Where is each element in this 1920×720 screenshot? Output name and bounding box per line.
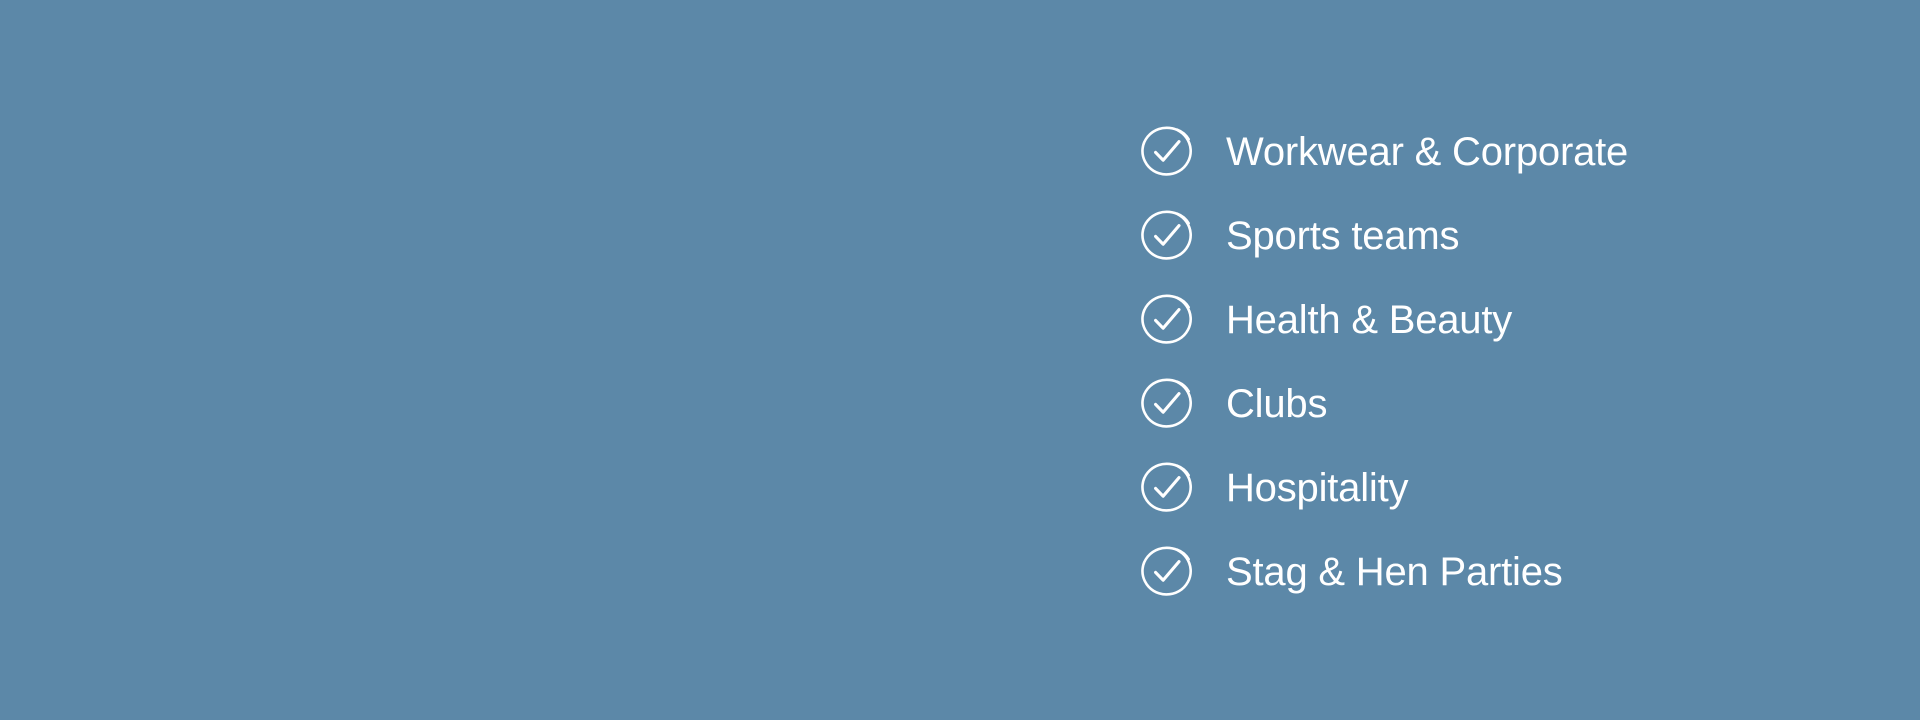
list-item[interactable]: Health & Beauty <box>1138 278 1838 362</box>
check-circle-icon <box>1138 291 1196 349</box>
check-circle-icon <box>1138 123 1196 181</box>
check-circle-icon <box>1138 543 1196 601</box>
list-item[interactable]: Clubs <box>1138 362 1838 446</box>
list-item-label: Hospitality <box>1226 468 1408 508</box>
services-checklist: Workwear & Corporate Sports teams He <box>1138 110 1838 614</box>
list-item-label: Clubs <box>1226 384 1327 424</box>
check-circle-icon <box>1138 207 1196 265</box>
list-item[interactable]: Workwear & Corporate <box>1138 110 1838 194</box>
list-item-label: Stag & Hen Parties <box>1226 552 1563 592</box>
list-item-label: Health & Beauty <box>1226 300 1512 340</box>
list-item-label: Workwear & Corporate <box>1226 132 1628 172</box>
check-circle-icon <box>1138 459 1196 517</box>
list-item[interactable]: Hospitality <box>1138 446 1838 530</box>
page-background: Workwear & Corporate Sports teams He <box>0 0 1920 720</box>
list-item[interactable]: Sports teams <box>1138 194 1838 278</box>
check-circle-icon <box>1138 375 1196 433</box>
list-item[interactable]: Stag & Hen Parties <box>1138 530 1838 614</box>
list-item-label: Sports teams <box>1226 216 1459 256</box>
